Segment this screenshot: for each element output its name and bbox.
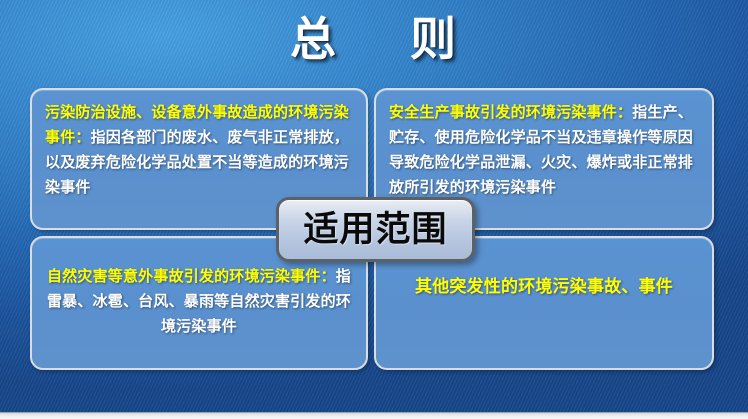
center-badge[interactable]: 适用范围 bbox=[276, 197, 475, 262]
slide-canvas: 总 则 污染防治设施、设备意外事故造成的环境污染事件：指因各部门的废水、废气非正… bbox=[0, 0, 748, 419]
quadrant-heading-bottom-right: 其他突发性的环境污染事故、事件 bbox=[415, 277, 673, 297]
center-badge-label: 适用范围 bbox=[303, 210, 447, 250]
quadrant-body-top-left: 指因各部门的废水、废气非正常排放，以及废弃危险化学品处置不当等造成的环境污染事件 bbox=[45, 128, 349, 196]
quadrant-heading-top-right: 安全生产事故引发的环境污染事件： bbox=[389, 103, 632, 121]
quadrant-text-top-left: 污染防治设施、设备意外事故造成的环境污染事件：指因各部门的废水、废气非正常排放，… bbox=[45, 100, 353, 200]
bottom-strip bbox=[0, 412, 748, 419]
quadrant-text-top-right: 安全生产事故引发的环境污染事件：指生产、贮存、使用危险化学品不当及违章操作等原因… bbox=[389, 100, 699, 200]
quadrant-heading-bottom-left: 自然灾害等意外事故引发的环境污染事件： bbox=[47, 267, 336, 285]
page-title: 总 则 bbox=[0, 8, 748, 70]
